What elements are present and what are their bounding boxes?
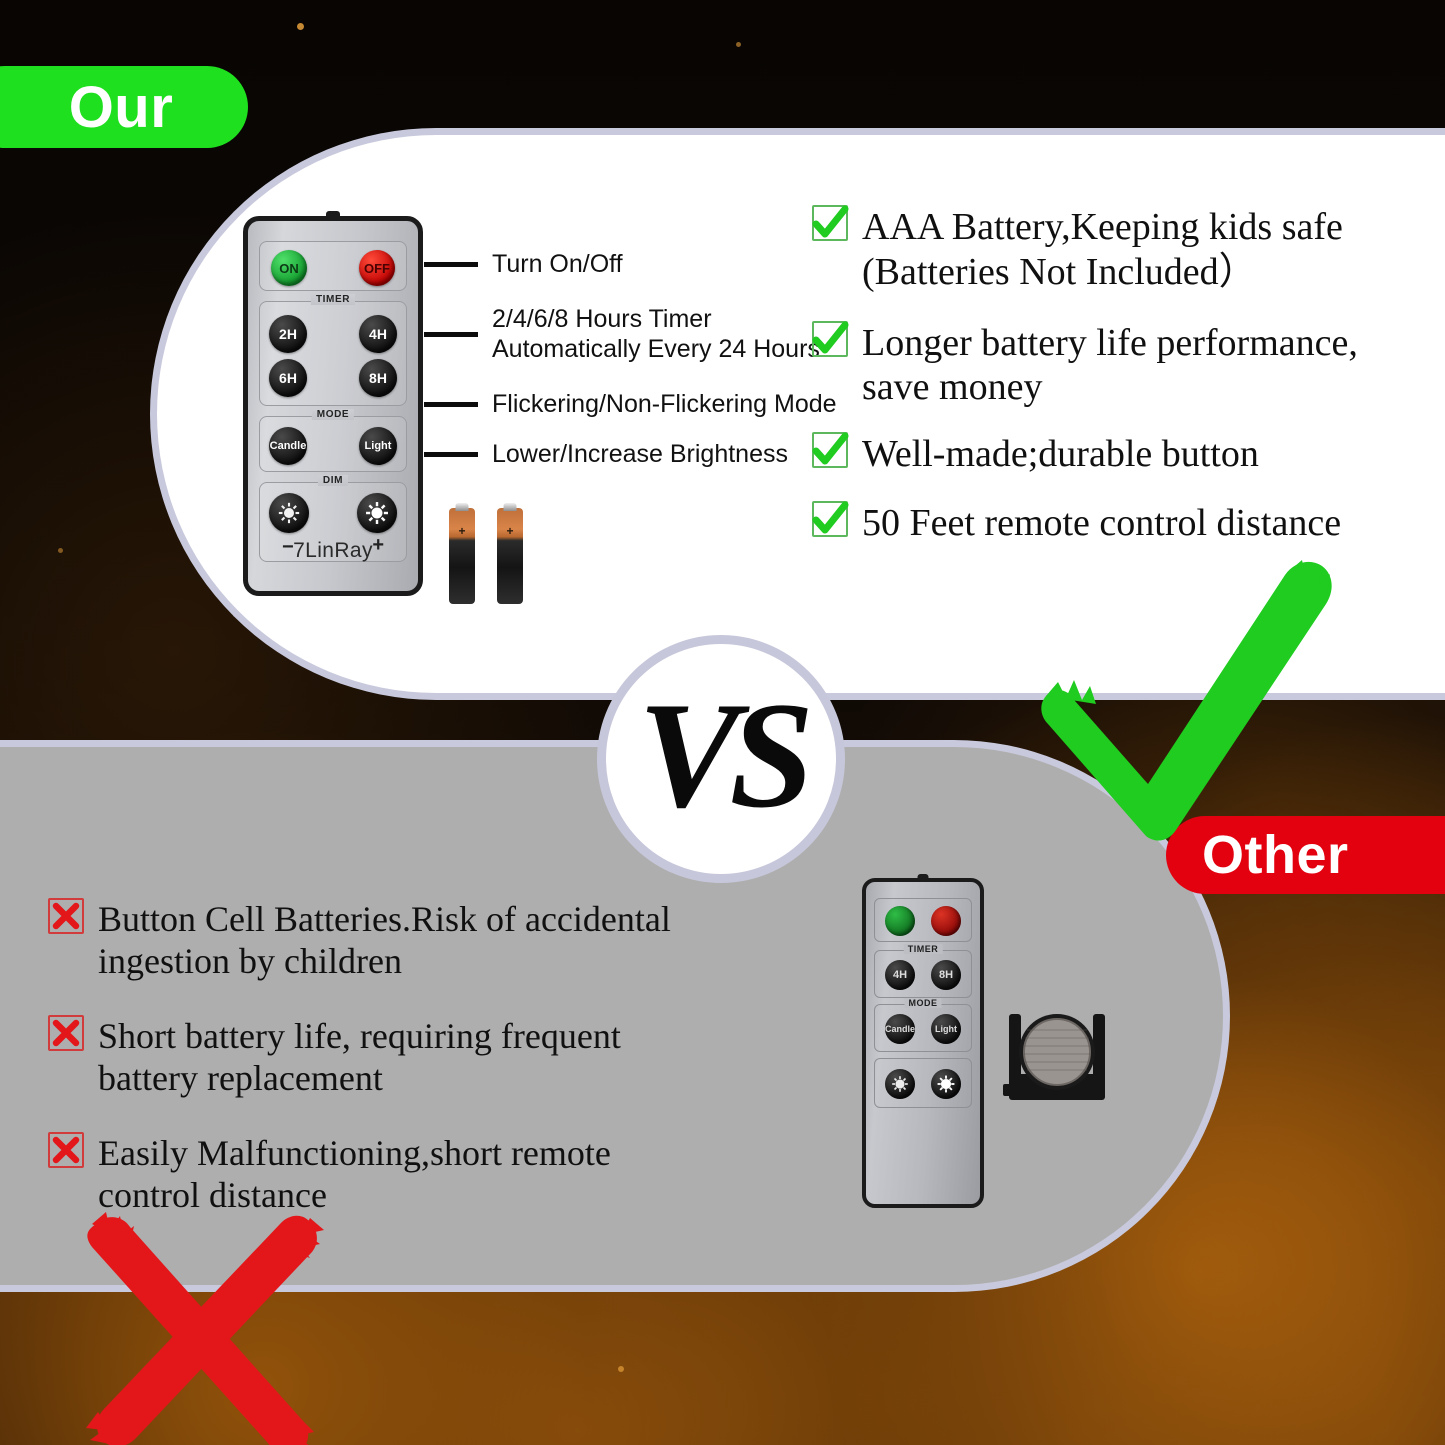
feature-text: Well-made;durable button bbox=[862, 432, 1259, 477]
other-remote-button-4h[interactable]: 4H bbox=[885, 960, 915, 990]
other-remote-button-light[interactable]: Light bbox=[931, 1014, 961, 1044]
remote-button-brightness-down[interactable] bbox=[269, 493, 309, 533]
drawback-item: Short battery life, requiring frequent b… bbox=[48, 1015, 748, 1100]
other-remote-button-on[interactable] bbox=[885, 906, 915, 936]
callout-mode-text: Flickering/Non-Flickering Mode bbox=[492, 390, 837, 420]
callout-power-text: Turn On/Off bbox=[492, 250, 623, 280]
our-badge: Our bbox=[0, 66, 248, 148]
other-remote-control: TIMER 4H 8H MODE Candle Light bbox=[862, 878, 984, 1208]
background-spark bbox=[736, 42, 741, 47]
check-icon bbox=[812, 205, 848, 241]
remote-timer-group: TIMER 2H 4H 6H 8H bbox=[259, 301, 407, 406]
feature-item: Longer battery life performance, save mo… bbox=[812, 321, 1424, 411]
check-icon bbox=[812, 501, 848, 537]
other-drawback-list: Button Cell Batteries.Risk of accidental… bbox=[48, 898, 748, 1217]
callout-power: Turn On/Off bbox=[424, 250, 623, 280]
comparison-infographic: Our ON OFF TIMER 2H 4H 6H 8 bbox=[0, 0, 1445, 1445]
feature-item: AAA Battery,Keeping kids safe (Batteries… bbox=[812, 205, 1424, 295]
remote-brand-label: 7LinRay bbox=[248, 539, 418, 563]
other-remote-button-8h[interactable]: 8H bbox=[931, 960, 961, 990]
remote-mode-group: MODE Candle Light bbox=[259, 416, 407, 472]
our-feature-list: AAA Battery,Keeping kids safe (Batteries… bbox=[812, 205, 1424, 546]
remote-button-light[interactable]: Light bbox=[359, 427, 397, 465]
vs-label: VS bbox=[638, 679, 804, 831]
callout-leader-line bbox=[424, 402, 478, 407]
feature-item: Well-made;durable button bbox=[812, 432, 1424, 477]
remote-ir-nub bbox=[326, 211, 340, 218]
other-remote-timer-group: TIMER 4H 8H bbox=[874, 950, 972, 998]
feature-text: AAA Battery,Keeping kids safe (Batteries… bbox=[862, 205, 1343, 295]
remote-button-brightness-up[interactable] bbox=[357, 493, 397, 533]
vs-badge: VS bbox=[597, 635, 845, 883]
feature-text: 50 Feet remote control distance bbox=[862, 501, 1341, 546]
cross-icon bbox=[48, 898, 84, 934]
aaa-battery: + bbox=[497, 508, 523, 604]
other-remote-mode-group: MODE Candle Light bbox=[874, 1004, 972, 1052]
remote-button-4h[interactable]: 4H bbox=[359, 315, 397, 353]
remote-power-group: ON OFF bbox=[259, 241, 407, 291]
remote-timer-label: TIMER bbox=[311, 294, 355, 305]
callout-timer-text: 2/4/6/8 Hours Timer Automatically Every … bbox=[492, 305, 820, 364]
background-spark bbox=[58, 548, 63, 553]
remote-ir-nub bbox=[918, 874, 929, 880]
remote-button-2h[interactable]: 2H bbox=[269, 315, 307, 353]
background-spark bbox=[618, 1366, 624, 1372]
other-remote-button-candle[interactable]: Candle bbox=[885, 1014, 915, 1044]
other-remote-button-off[interactable] bbox=[931, 906, 961, 936]
feature-item: 50 Feet remote control distance bbox=[812, 501, 1424, 546]
remote-button-off[interactable]: OFF bbox=[359, 250, 395, 286]
brightness-down-icon bbox=[276, 500, 302, 526]
other-remote-power-group bbox=[874, 898, 972, 942]
coin-cell-battery-holder bbox=[1003, 1000, 1111, 1112]
brightness-down-icon bbox=[890, 1074, 910, 1094]
remote-button-6h[interactable]: 6H bbox=[269, 359, 307, 397]
remote-button-8h[interactable]: 8H bbox=[359, 359, 397, 397]
drawback-text: Short battery life, requiring frequent b… bbox=[98, 1015, 621, 1100]
drawback-item: Button Cell Batteries.Risk of accidental… bbox=[48, 898, 748, 983]
battery-polarity-label: + bbox=[449, 524, 475, 538]
check-icon bbox=[812, 432, 848, 468]
other-remote-mode-label: MODE bbox=[905, 998, 942, 1008]
remote-button-candle[interactable]: Candle bbox=[269, 427, 307, 465]
callout-leader-line bbox=[424, 452, 478, 457]
big-red-cross-icon bbox=[62, 1200, 362, 1445]
brightness-up-icon bbox=[364, 500, 390, 526]
callout-timer: 2/4/6/8 Hours Timer Automatically Every … bbox=[424, 305, 820, 364]
battery-positive-cap bbox=[456, 503, 469, 511]
cross-icon bbox=[48, 1132, 84, 1168]
feature-text: Longer battery life performance, save mo… bbox=[862, 321, 1358, 411]
aaa-battery: + bbox=[449, 508, 475, 604]
remote-button-on[interactable]: ON bbox=[271, 250, 307, 286]
callout-mode: Flickering/Non-Flickering Mode bbox=[424, 390, 837, 420]
battery-positive-cap bbox=[504, 503, 517, 511]
other-remote-timer-label: TIMER bbox=[904, 944, 943, 954]
our-badge-label: Our bbox=[69, 74, 174, 141]
callout-dim: Lower/Increase Brightness bbox=[424, 440, 788, 470]
background-spark bbox=[297, 23, 304, 30]
big-green-check-icon bbox=[1030, 548, 1360, 848]
drawback-text: Button Cell Batteries.Risk of accidental… bbox=[98, 898, 671, 983]
other-remote-button-brightness-up[interactable] bbox=[931, 1069, 961, 1099]
other-remote-button-brightness-down[interactable] bbox=[885, 1069, 915, 1099]
callout-leader-line bbox=[424, 262, 478, 267]
our-remote-control: ON OFF TIMER 2H 4H 6H 8H MODE bbox=[243, 216, 423, 596]
cross-icon bbox=[48, 1015, 84, 1051]
check-icon bbox=[812, 321, 848, 357]
callout-leader-line bbox=[424, 332, 478, 337]
remote-mode-label: MODE bbox=[312, 409, 354, 420]
remote-dim-label: DIM bbox=[318, 475, 348, 486]
battery-polarity-label: + bbox=[497, 524, 523, 538]
brightness-up-icon bbox=[936, 1074, 956, 1094]
other-remote-dim-group bbox=[874, 1058, 972, 1108]
callout-dim-text: Lower/Increase Brightness bbox=[492, 440, 788, 470]
